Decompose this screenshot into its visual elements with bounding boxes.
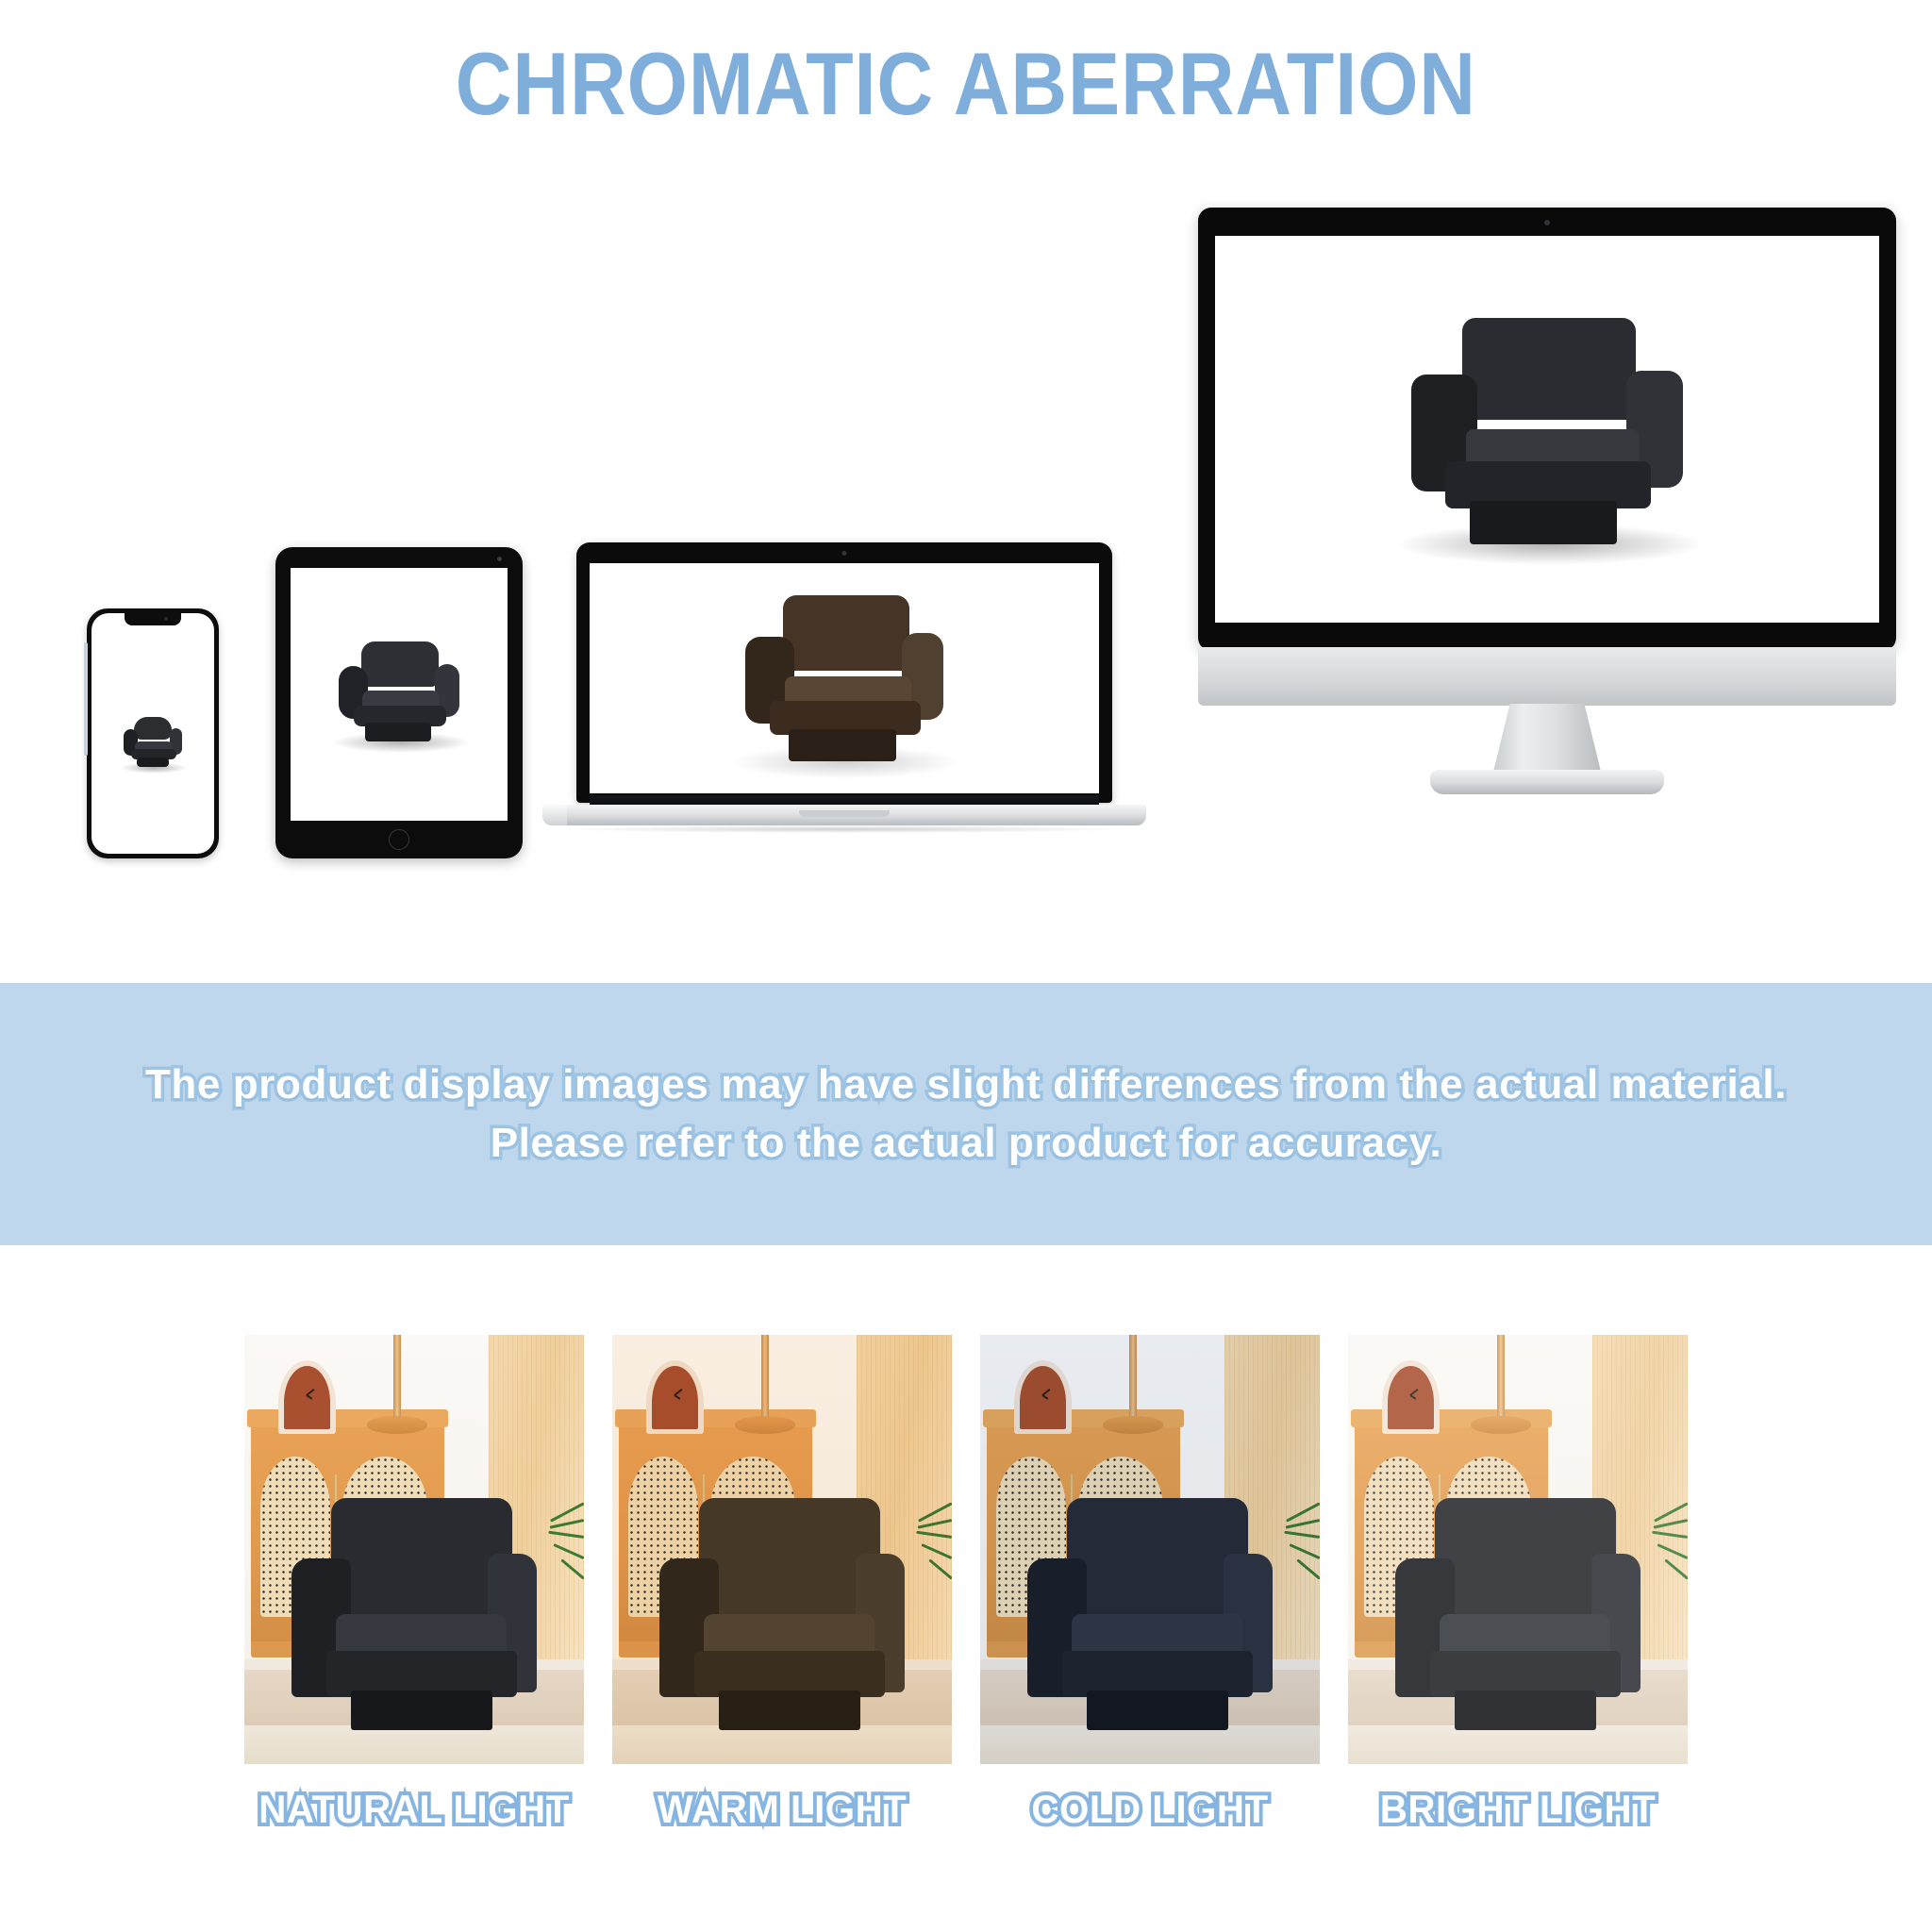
monitor-chin bbox=[1198, 647, 1896, 706]
tablet-home-button[interactable] bbox=[389, 829, 409, 850]
variant-cell-warm[interactable]: WARM LIGHT bbox=[612, 1335, 952, 1901]
laptop-drop-shadow bbox=[567, 825, 1122, 833]
tablet-screen bbox=[291, 568, 508, 821]
monitor-stand-foot bbox=[1430, 770, 1664, 794]
device-mockup-laptop bbox=[542, 542, 1146, 844]
tablet-camera-icon bbox=[497, 557, 502, 561]
product-image-laptop bbox=[745, 595, 943, 771]
variant-label-cold: COLD LIGHT bbox=[987, 1787, 1313, 1832]
variant-cell-natural[interactable]: NATURAL LIGHT bbox=[244, 1335, 584, 1901]
product-image-phone bbox=[124, 717, 182, 770]
variant-cell-cold[interactable]: COLD LIGHT bbox=[980, 1335, 1320, 1901]
phone-screen bbox=[92, 613, 214, 854]
laptop-camera-icon bbox=[842, 551, 847, 556]
device-mockup-row bbox=[0, 170, 1932, 887]
product-image-tablet bbox=[339, 641, 459, 747]
laptop-lid bbox=[576, 542, 1112, 803]
title-bar: CHROMATIC ABERRATION bbox=[0, 32, 1932, 136]
laptop-base bbox=[542, 805, 1146, 825]
product-image-monitor bbox=[1411, 318, 1683, 556]
disclaimer-line-2: Please refer to the actual product for a… bbox=[491, 1120, 1442, 1167]
laptop-screen bbox=[590, 563, 1099, 793]
variant-cell-bright[interactable]: BRIGHT LIGHT bbox=[1348, 1335, 1688, 1901]
monitor-bezel bbox=[1198, 208, 1896, 651]
variant-photo-cold bbox=[980, 1335, 1320, 1764]
variant-photo-natural bbox=[244, 1335, 584, 1764]
armchair-natural bbox=[291, 1498, 536, 1730]
monitor-camera-icon bbox=[1544, 220, 1550, 225]
monitor-screen bbox=[1215, 236, 1879, 623]
disclaimer-banner: The product display images may have slig… bbox=[0, 983, 1932, 1245]
device-mockup-phone bbox=[87, 608, 219, 858]
device-mockup-monitor bbox=[1198, 208, 1896, 811]
disclaimer-line-1: The product display images may have slig… bbox=[145, 1061, 1787, 1108]
palm-plant bbox=[529, 1481, 584, 1653]
device-mockup-tablet bbox=[275, 547, 523, 858]
lighting-variant-strip: NATURAL LIGHT bbox=[0, 1335, 1932, 1901]
variant-label-warm: WARM LIGHT bbox=[619, 1787, 945, 1832]
monitor-stand-neck bbox=[1492, 704, 1602, 775]
phone-notch-icon bbox=[125, 613, 181, 625]
phone-side-button bbox=[84, 642, 88, 756]
laptop-lid-notch-icon bbox=[799, 810, 890, 817]
page-title: CHROMATIC ABERRATION bbox=[456, 33, 1476, 135]
variant-photo-warm bbox=[612, 1335, 952, 1764]
variant-photo-bright bbox=[1348, 1335, 1688, 1764]
variant-label-bright: BRIGHT LIGHT bbox=[1355, 1787, 1681, 1832]
variant-label-natural: NATURAL LIGHT bbox=[251, 1787, 577, 1832]
